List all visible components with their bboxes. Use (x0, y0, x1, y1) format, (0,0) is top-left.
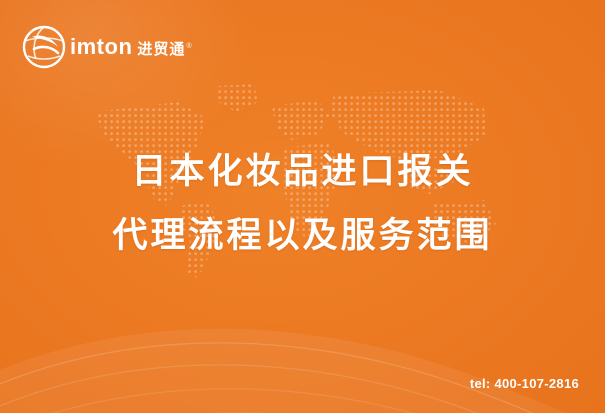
contact-telephone: tel: 400-107-2816 (470, 376, 579, 391)
headline: 日本化妆品进口报关 代理流程以及服务范围 (0, 140, 605, 268)
logo-latin-text: imton (70, 36, 132, 58)
headline-line-2: 代理流程以及服务范围 (0, 204, 605, 268)
imton-globe-icon (22, 25, 66, 69)
logo-chinese-text: 进贸通 (137, 42, 185, 57)
registered-mark: ® (186, 43, 191, 50)
brand-logo[interactable]: imton 进贸通 ® (22, 24, 192, 70)
promo-banner: imton 进贸通 ® 日本化妆品进口报关 代理流程以及服务范围 tel: 40… (0, 0, 605, 413)
headline-line-1: 日本化妆品进口报关 (0, 140, 605, 204)
